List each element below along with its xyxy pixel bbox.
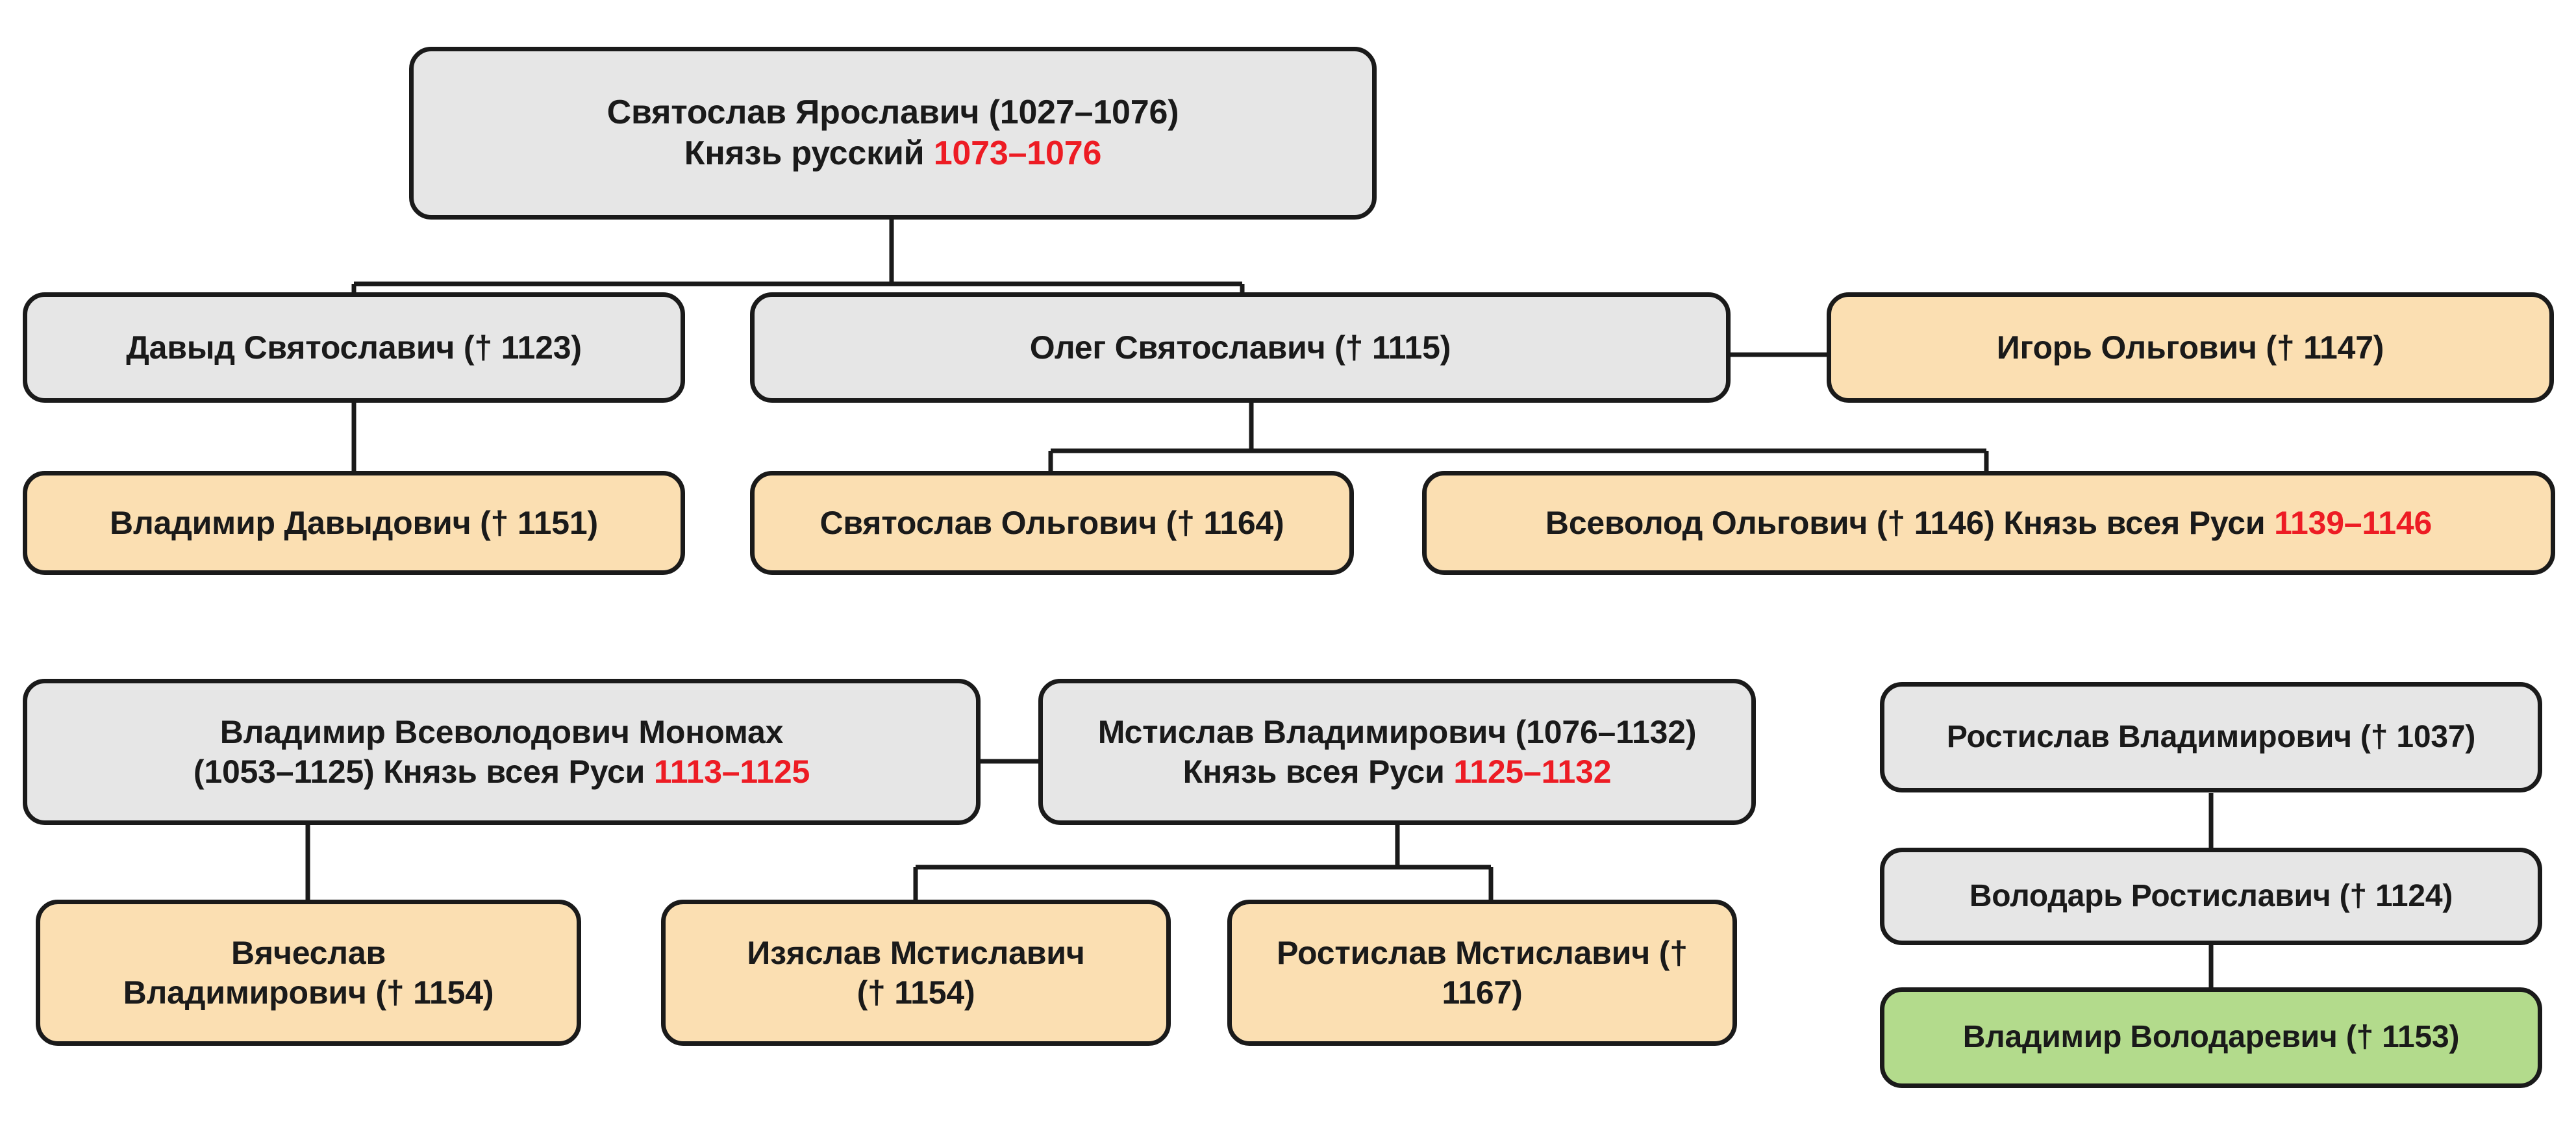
node-izyaslav-mstislavich[interactable]: Изяслав Мстиславич († 1154) [661, 900, 1171, 1046]
reign-years: 1125–1132 [1453, 753, 1611, 790]
reign-years: 1113–1125 [654, 753, 810, 790]
node-rostislav-mstislavich[interactable]: Ростислав Мстиславич († 1167) [1227, 900, 1737, 1046]
node-label: Ростислав Владимирович († 1037) [1947, 718, 2475, 757]
node-label: Святослав Ольгович († 1164) [820, 503, 1284, 543]
node-label: Вячеслав Владимирович († 1154) [123, 933, 494, 1013]
node-svyatoslav-yaroslavich[interactable]: Святослав Ярославич (1027–1076)Князь рус… [409, 47, 1377, 220]
node-label: Ростислав Мстиславич († 1167) [1277, 933, 1688, 1013]
node-label: Владимир Володаревич († 1153) [1963, 1019, 2460, 1057]
reign-years: 1139–1146 [2274, 505, 2432, 541]
node-vyacheslav-vladimirovich[interactable]: Вячеслав Владимирович († 1154) [36, 900, 581, 1046]
node-rostislav-vladimirovich[interactable]: Ростислав Владимирович († 1037) [1880, 682, 2542, 792]
node-vladimir-davydovich[interactable]: Владимир Давыдович († 1151) [23, 471, 685, 575]
node-vladimir-monomah[interactable]: Владимир Всеволодович Мономах (1053–1125… [23, 679, 981, 825]
node-label: Изяслав Мстиславич († 1154) [747, 933, 1084, 1013]
node-label: Владимир Давыдович († 1151) [110, 503, 598, 543]
node-label: Игорь Ольгович († 1147) [1997, 328, 2384, 368]
node-vsevolod-olgovich[interactable]: Всеволод Ольгович († 1146) Князь всея Ру… [1422, 471, 2555, 575]
node-label: Володарь Ростиславич († 1124) [1970, 878, 2453, 916]
node-igor-olgovich[interactable]: Игорь Ольгович († 1147) [1827, 292, 2554, 403]
node-label: Олег Святославич († 1115) [1030, 328, 1451, 368]
node-davyd-svyatoslavich[interactable]: Давыд Святославич († 1123) [23, 292, 685, 403]
node-label: Давыд Святославич († 1123) [126, 328, 582, 368]
node-label: Всеволод Ольгович († 1146) Князь всея Ру… [1545, 503, 2432, 543]
node-label: Святослав Ярославич (1027–1076)Князь рус… [607, 92, 1179, 175]
node-svyatoslav-olgovich[interactable]: Святослав Ольгович († 1164) [750, 471, 1354, 575]
node-vladimir-volodarevich[interactable]: Владимир Володаревич († 1153) [1880, 987, 2542, 1088]
genealogy-diagram: Святослав Ярославич (1027–1076)Князь рус… [0, 0, 2576, 1127]
node-mstislav-vladimirovich[interactable]: Мстислав Владимирович (1076–1132) Князь … [1038, 679, 1756, 825]
node-label: Мстислав Владимирович (1076–1132) Князь … [1098, 713, 1697, 792]
node-volodar-rostislavich[interactable]: Володарь Ростиславич († 1124) [1880, 848, 2542, 945]
reign-years: 1073–1076 [934, 134, 1101, 172]
node-oleg-svyatoslavich[interactable]: Олег Святославич († 1115) [750, 292, 1731, 403]
node-label: Владимир Всеволодович Мономах (1053–1125… [194, 713, 810, 792]
